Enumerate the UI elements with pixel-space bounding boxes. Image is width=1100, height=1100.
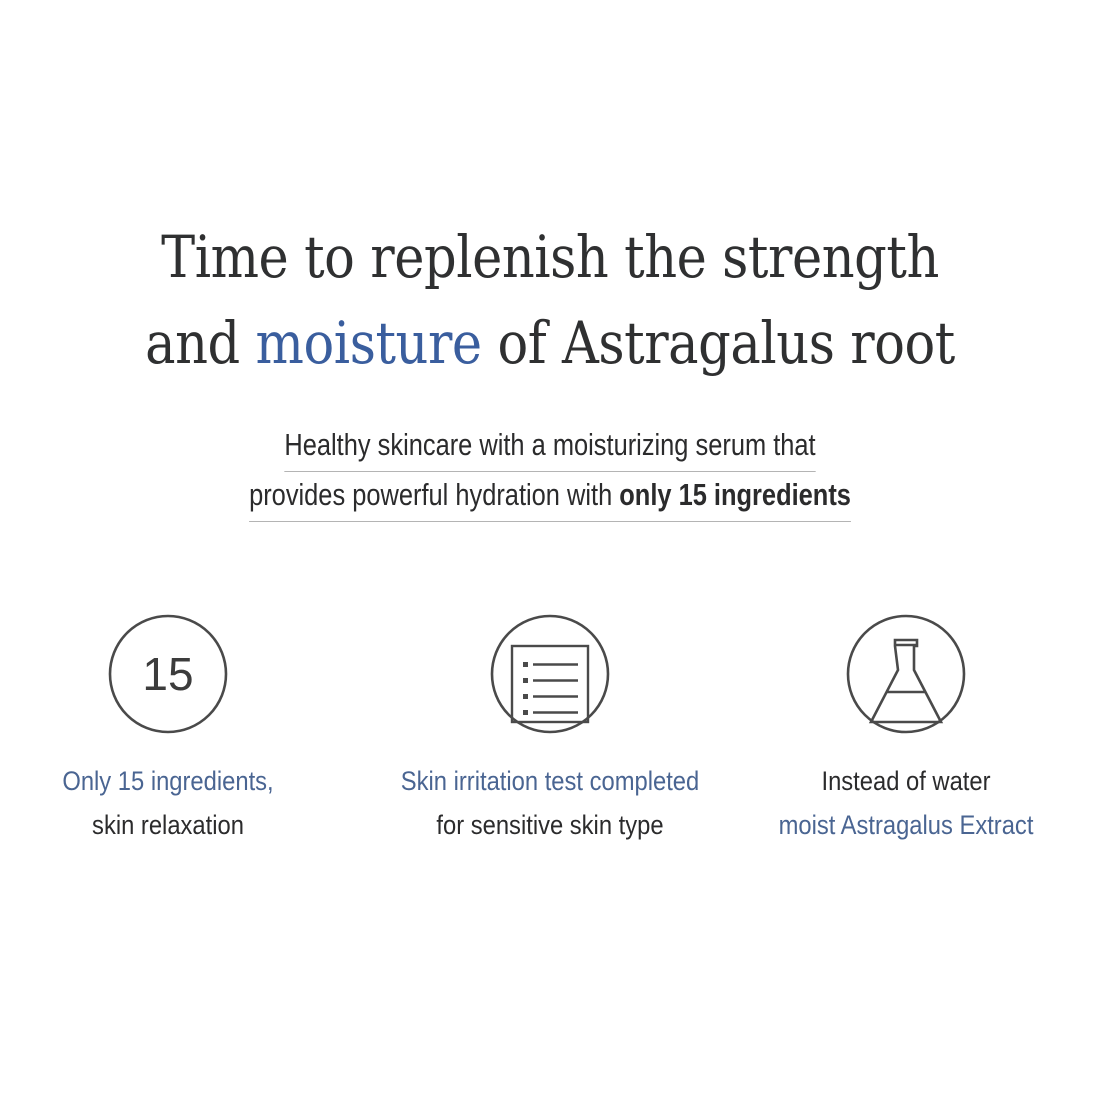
circle-erlenmeyer-flask-icon	[844, 612, 968, 736]
feature-caption-line-1: Skin irritation test completed	[383, 759, 717, 803]
icon-number-label: 15	[142, 648, 193, 700]
feature-caption-line-1: Instead of water	[739, 759, 1073, 803]
subtitle-line-2-bold: only 15 ingredients	[619, 477, 851, 512]
feature-row: 15 Only 15 ingredients, skin relaxation	[0, 612, 1100, 912]
feature-caption: Skin irritation test completed for sensi…	[383, 759, 717, 847]
headline-line-2-before: and	[145, 309, 255, 377]
feature-caption: Only 15 ingredients, skin relaxation	[1, 759, 335, 847]
page-headline: Time to replenish the strength and moist…	[66, 214, 1034, 386]
feature-caption-line-2: for sensitive skin type	[383, 803, 717, 847]
feature-caption: Instead of water moist Astragalus Extrac…	[739, 759, 1073, 847]
circle-number-15-icon: 15	[106, 612, 230, 736]
circle-checklist-document-icon	[488, 612, 612, 736]
feature-caption-line-1: Only 15 ingredients,	[1, 759, 335, 803]
feature-item-irritation-test: Skin irritation test completed for sensi…	[360, 612, 740, 847]
feature-item-astragalus-extract: Instead of water moist Astragalus Extrac…	[716, 612, 1096, 847]
subtitle-line-1-text: Healthy skincare with a moisturizing ser…	[284, 422, 815, 472]
feature-caption-line-2: moist Astragalus Extract	[739, 803, 1073, 847]
subtitle-line-2-normal: provides powerful hydration with	[249, 477, 619, 512]
subtitle-line-2-text: provides powerful hydration with only 15…	[249, 472, 851, 522]
headline-line-1: Time to replenish the strength	[66, 214, 1034, 300]
promo-banner: Time to replenish the strength and moist…	[0, 0, 1100, 1100]
subtitle-line-2: provides powerful hydration with only 15…	[99, 472, 1001, 522]
feature-item-ingredients: 15 Only 15 ingredients, skin relaxation	[0, 612, 358, 847]
headline-accent-word: moisture	[256, 309, 482, 377]
page-subtitle: Healthy skincare with a moisturizing ser…	[99, 422, 1001, 522]
headline-line-2: and moisture of Astragalus root	[66, 300, 1034, 386]
feature-caption-line-2: skin relaxation	[1, 803, 335, 847]
headline-line-2-after: of Astragalus root	[482, 309, 955, 377]
subtitle-line-1: Healthy skincare with a moisturizing ser…	[99, 422, 1001, 472]
